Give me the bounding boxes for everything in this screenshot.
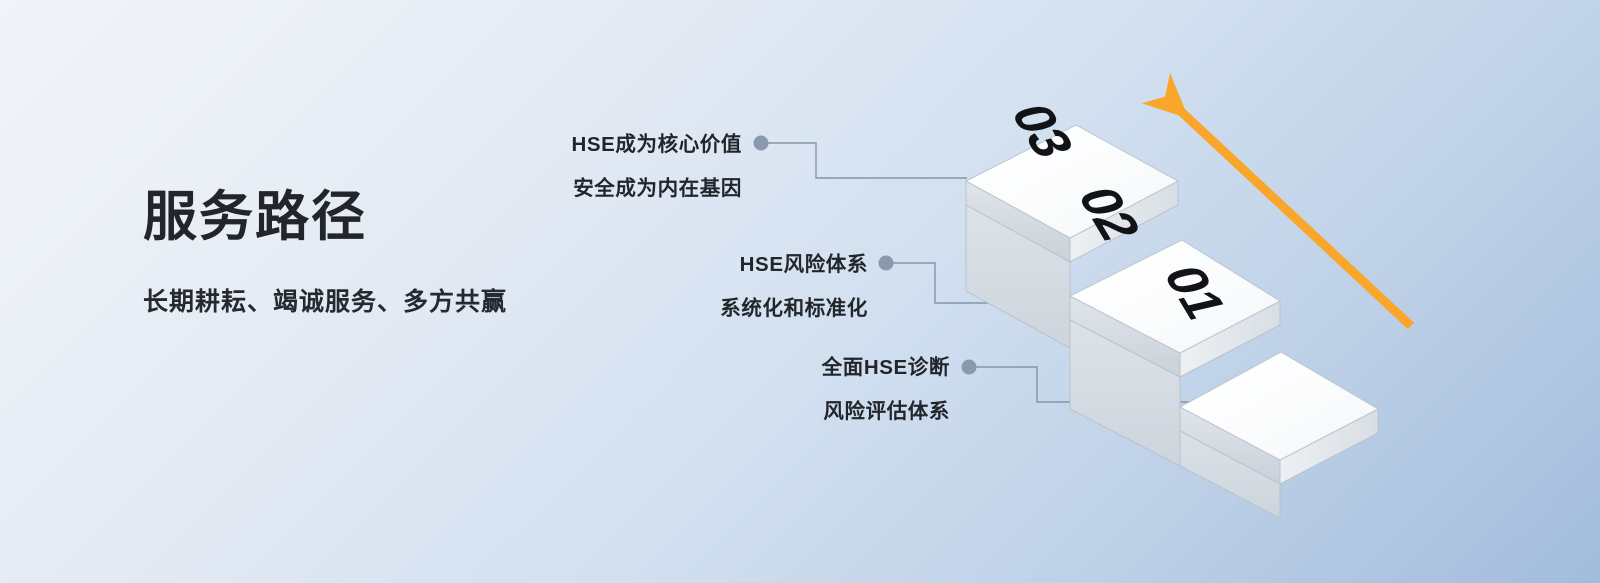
connector-dot-01	[962, 360, 977, 375]
slide-canvas: 服务路径 长期耕耘、竭诚服务、多方共赢 HSE成为核心价值 安全成为内在基因 H…	[0, 0, 1600, 583]
isometric-staircase-diagram: 03 02 01	[0, 0, 1600, 583]
connector-dots	[754, 136, 977, 375]
connector-dot-02	[879, 256, 894, 271]
connector-dot-03	[754, 136, 769, 151]
connector-line-03	[768, 143, 967, 178]
